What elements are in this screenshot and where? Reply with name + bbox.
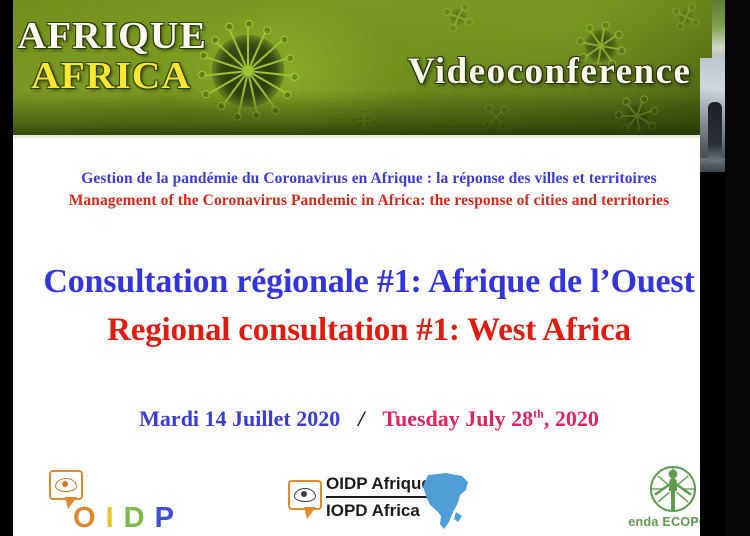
date-line: Mardi 14 Juillet 2020 / Tuesday July 28t…: [13, 406, 725, 432]
main-title-block: Consultation régionale #1: Afrique de l’…: [13, 262, 725, 350]
subtitle-block: Gestion de la pandémie du Coronavirus en…: [13, 168, 725, 212]
oidp-logo: OIDP: [33, 470, 203, 536]
date-french: Mardi 14 Juillet 2020: [139, 406, 340, 431]
oidp-letters: OIDP: [73, 502, 184, 535]
left-black-rail: [0, 0, 13, 536]
coronavirus-graphic-small-3: [443, 2, 473, 32]
date-english-suffix: , 2020: [544, 406, 599, 431]
africa-map-icon: [416, 472, 478, 532]
coronavirus-graphic-small-6: [673, 4, 699, 30]
subtitle-english: Management of the Coronavirus Pandemic i…: [13, 190, 725, 212]
coronavirus-graphic-small-2: [613, 92, 661, 137]
enda-figure-icon: [648, 464, 698, 514]
speech-bubble-eye-icon: [49, 470, 83, 500]
oidp-letter-o: O: [73, 502, 106, 534]
video-thumbnail-person: [708, 102, 722, 162]
page-title-french: Consultation régionale #1: Afrique de l’…: [13, 262, 725, 302]
presentation-slide: AFRIQUE AFRICA Videoconference Gestion d…: [13, 0, 725, 536]
coronavirus-graphic-small-4: [483, 104, 509, 130]
oidp-letter-i: I: [106, 502, 124, 534]
oidp-letter-p: P: [155, 502, 184, 534]
footer-logo-row: OIDP OIDP Afrique IOPD Africa: [13, 462, 725, 536]
brand-africa-label: AFRICA: [17, 58, 204, 95]
afrique-africa-logo: AFRIQUE AFRICA: [21, 18, 201, 95]
speech-bubble-eye-icon-2: [288, 480, 322, 510]
oidp-afrique-logo: OIDP Afrique IOPD Africa: [288, 472, 488, 534]
subtitle-french: Gestion de la pandémie du Coronavirus en…: [13, 168, 725, 190]
date-english-ordinal: th: [533, 407, 544, 421]
date-english: Tuesday July 28th, 2020: [382, 406, 598, 431]
date-separator: /: [344, 406, 378, 431]
page-title-english: Regional consultation #1: West Africa: [13, 311, 725, 350]
coronavirus-graphic-small-5: [353, 110, 375, 132]
eye-pupil-icon-2: [301, 491, 307, 497]
eye-pupil-icon: [62, 481, 68, 487]
right-black-rail: [725, 0, 750, 536]
videoconference-label: Videoconference: [408, 50, 691, 93]
brand-afrique-label: AFRIQUE: [17, 18, 204, 55]
date-english-prefix: Tuesday July 28: [382, 406, 533, 431]
oidp-letter-d: D: [124, 502, 155, 534]
banner-divider: [13, 135, 725, 138]
videoconference-slide-screen: AFRIQUE AFRICA Videoconference Gestion d…: [0, 0, 750, 536]
